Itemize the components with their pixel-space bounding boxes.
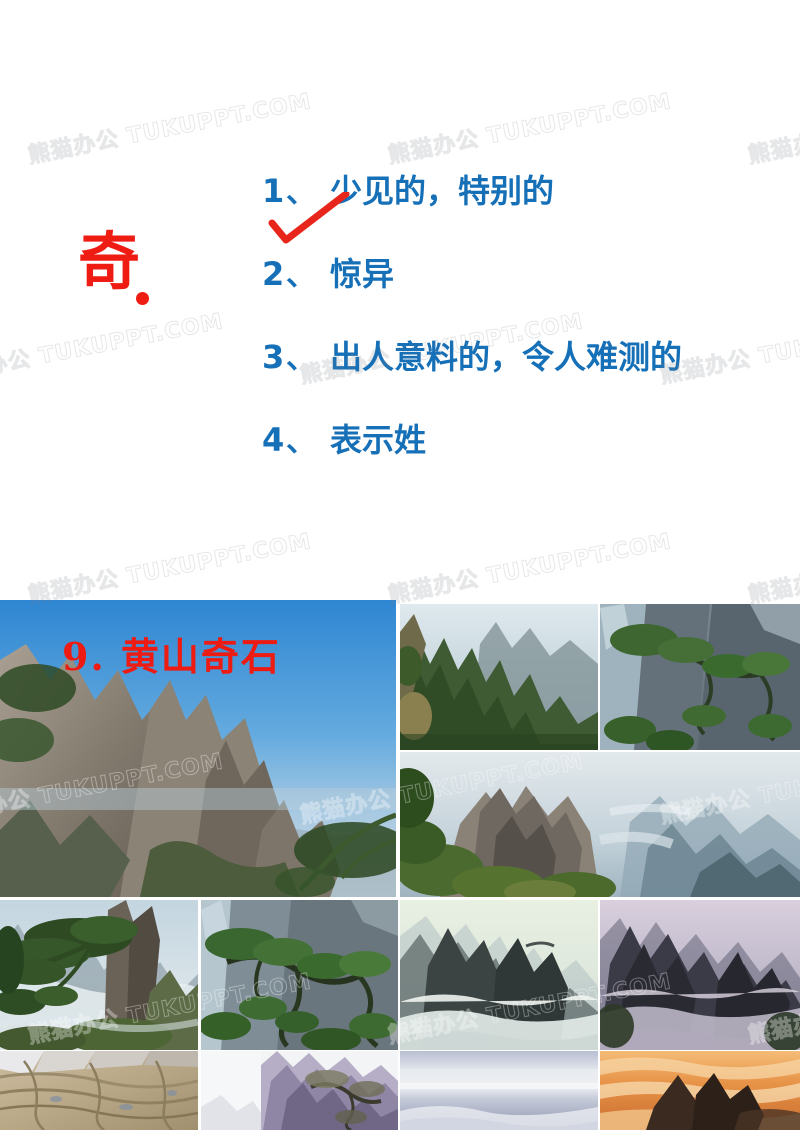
photo-huangshan-welcoming-pine-cliff (600, 604, 800, 750)
list-item: 3 、 出人意料的，令人难测的 (262, 336, 782, 419)
photo-huangshan-sunset-cloud-sea (600, 1051, 800, 1130)
meaning-list: 1 、 少见的，特别的 2 、 惊异 3 、 出人意料的，令人难测的 4 、 表… (262, 170, 782, 502)
list-item-number: 1 (262, 170, 286, 212)
list-item: 2 、 惊异 (262, 253, 782, 336)
photo-huangshan-green-ridges (400, 604, 598, 750)
list-item-label: 惊异 (330, 253, 394, 295)
photo-huangshan-rock-and-sea-of-clouds (400, 752, 800, 897)
photo-huangshan-twisted-pine (201, 900, 398, 1050)
photo-huangshan-snow-pine (201, 1051, 398, 1130)
photo-huangshan-peak-blue-sky: 9. 黄山奇石 (0, 600, 396, 897)
list-item-number: 4 (262, 419, 286, 461)
list-item-separator: 、 (286, 338, 330, 380)
photo-huangshan-aerial-sand-ridges (0, 1051, 198, 1130)
list-item-label: 出人意料的，令人难测的 (330, 336, 682, 378)
list-item-separator: 、 (286, 421, 330, 463)
photo-collage: 9. 黄山奇石 (0, 600, 800, 1130)
list-item-number: 3 (262, 336, 286, 378)
list-item-label: 表示姓 (330, 419, 426, 461)
photo-huangshan-cloud-sea-horizon (400, 1051, 598, 1130)
list-item: 1 、 少见的，特别的 (262, 170, 782, 253)
headword-dot-marker (136, 292, 149, 305)
list-item-separator: 、 (286, 172, 330, 214)
photo-huangshan-purple-fog-peaks (600, 900, 800, 1050)
photo-huangshan-pine-over-clouds (0, 900, 198, 1050)
list-item-number: 2 (262, 253, 286, 295)
list-item-separator: 、 (286, 255, 330, 297)
lesson-title: 9. 黄山奇石 (62, 626, 281, 681)
photo-huangshan-misty-peaks (400, 900, 598, 1050)
list-item-label: 少见的，特别的 (330, 170, 554, 212)
headword-character: 奇 (78, 231, 140, 293)
slide-top-section: 奇 1 、 少见的，特别的 2 、 惊异 3 、 出人意料的，令人难测的 4 、… (0, 0, 800, 600)
list-item: 4 、 表示姓 (262, 419, 782, 502)
